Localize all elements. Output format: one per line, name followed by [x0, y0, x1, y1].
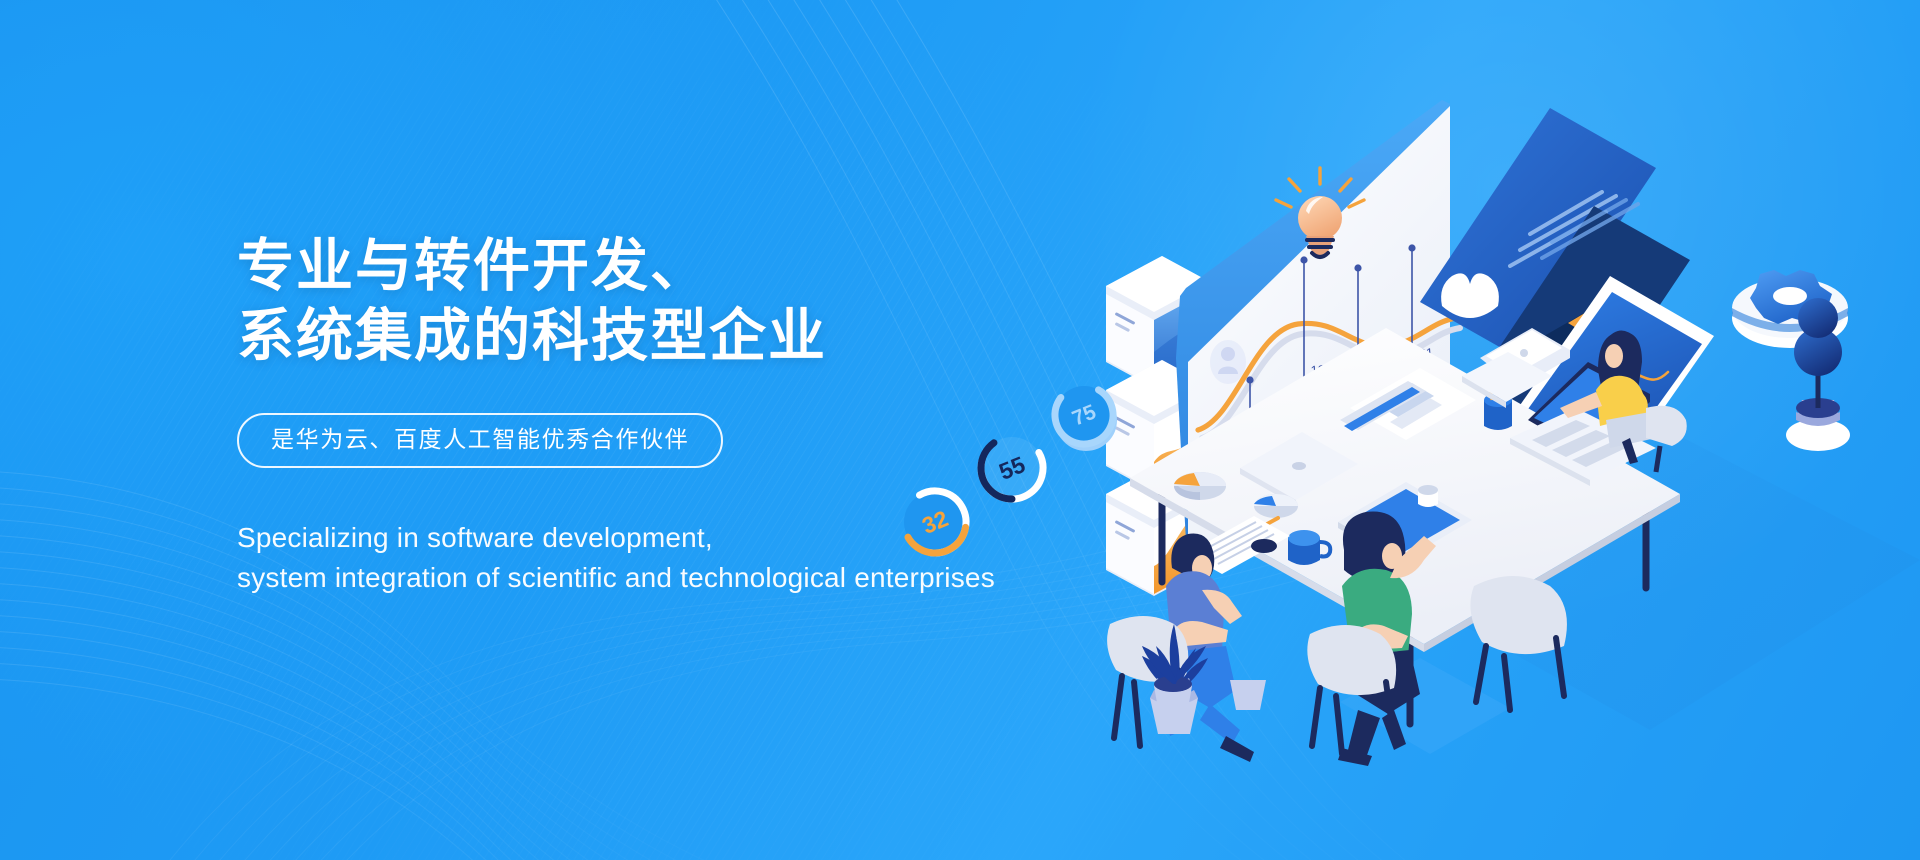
- headline-line-2: 系统集成的科技型企业: [237, 302, 1137, 372]
- hero-banner: 专业与转件开发、 系统集成的科技型企业 是华为云、百度人工智能优秀合作伙伴 Sp…: [0, 0, 1920, 860]
- subtitle-line-1: Specializing in software development,: [237, 518, 1137, 558]
- headline-line-1: 专业与转件开发、: [237, 232, 1137, 302]
- chair-right: [1307, 625, 1396, 754]
- chair-far-right: [1470, 576, 1567, 710]
- subtitle-line-2: system integration of scientific and tec…: [237, 558, 1137, 598]
- pie-chart: [1174, 472, 1226, 500]
- hero-copy-block: 专业与转件开发、 系统集成的科技型企业 是华为云、百度人工智能优秀合作伙伴 Sp…: [237, 232, 1137, 598]
- page-title: 专业与转件开发、 系统集成的科技型企业: [237, 232, 1137, 371]
- donut-chart: [1254, 494, 1298, 518]
- mouse: [1251, 539, 1277, 553]
- mug-top: [1418, 485, 1438, 507]
- hero-illustration: 65 123 97 81: [1090, 90, 1920, 770]
- potted-plant-bottom: [1230, 680, 1266, 710]
- partner-badge: 是华为云、百度人工智能优秀合作伙伴: [237, 413, 723, 468]
- avatar-watermark: [1210, 340, 1246, 384]
- hero-subtitle: Specializing in software development, sy…: [237, 518, 1137, 598]
